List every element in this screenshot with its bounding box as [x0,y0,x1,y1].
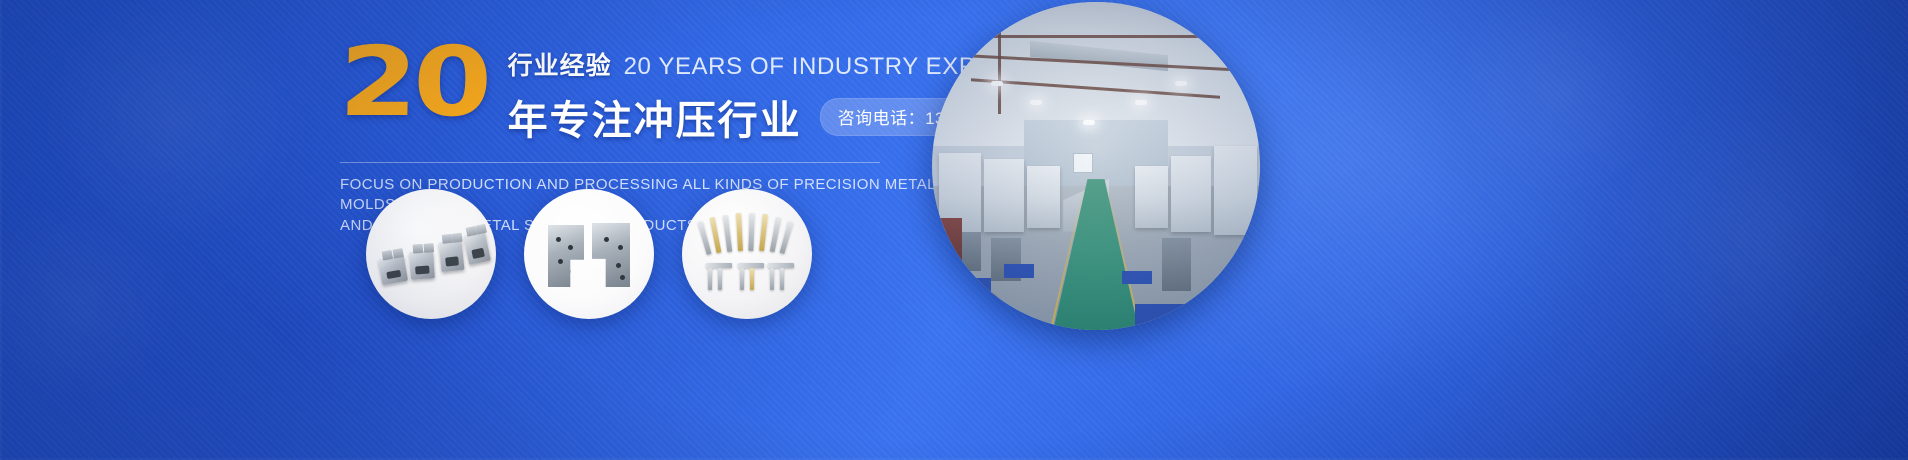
stamping-mold-photo [524,189,654,319]
promo-banner: 20 行业经验 20 YEARS OF INDUSTRY EXPERIENCE … [0,0,1908,460]
years-number: 20 [338,38,488,126]
metal-terminals-photo [682,189,812,319]
photo-overlay-shade [932,2,1260,330]
stamping-focus-cn-label: 年专注冲压行业 [508,88,802,146]
product-circle-mold[interactable] [524,189,654,319]
divider-rule [340,162,880,163]
factory-workshop-photo[interactable] [932,2,1260,330]
industry-experience-cn-label: 行业经验 [508,46,612,82]
product-circle-connectors[interactable] [366,189,496,319]
product-thumbnails [366,189,812,319]
product-circle-terminals[interactable] [682,189,812,319]
metal-connectors-photo [366,189,496,319]
